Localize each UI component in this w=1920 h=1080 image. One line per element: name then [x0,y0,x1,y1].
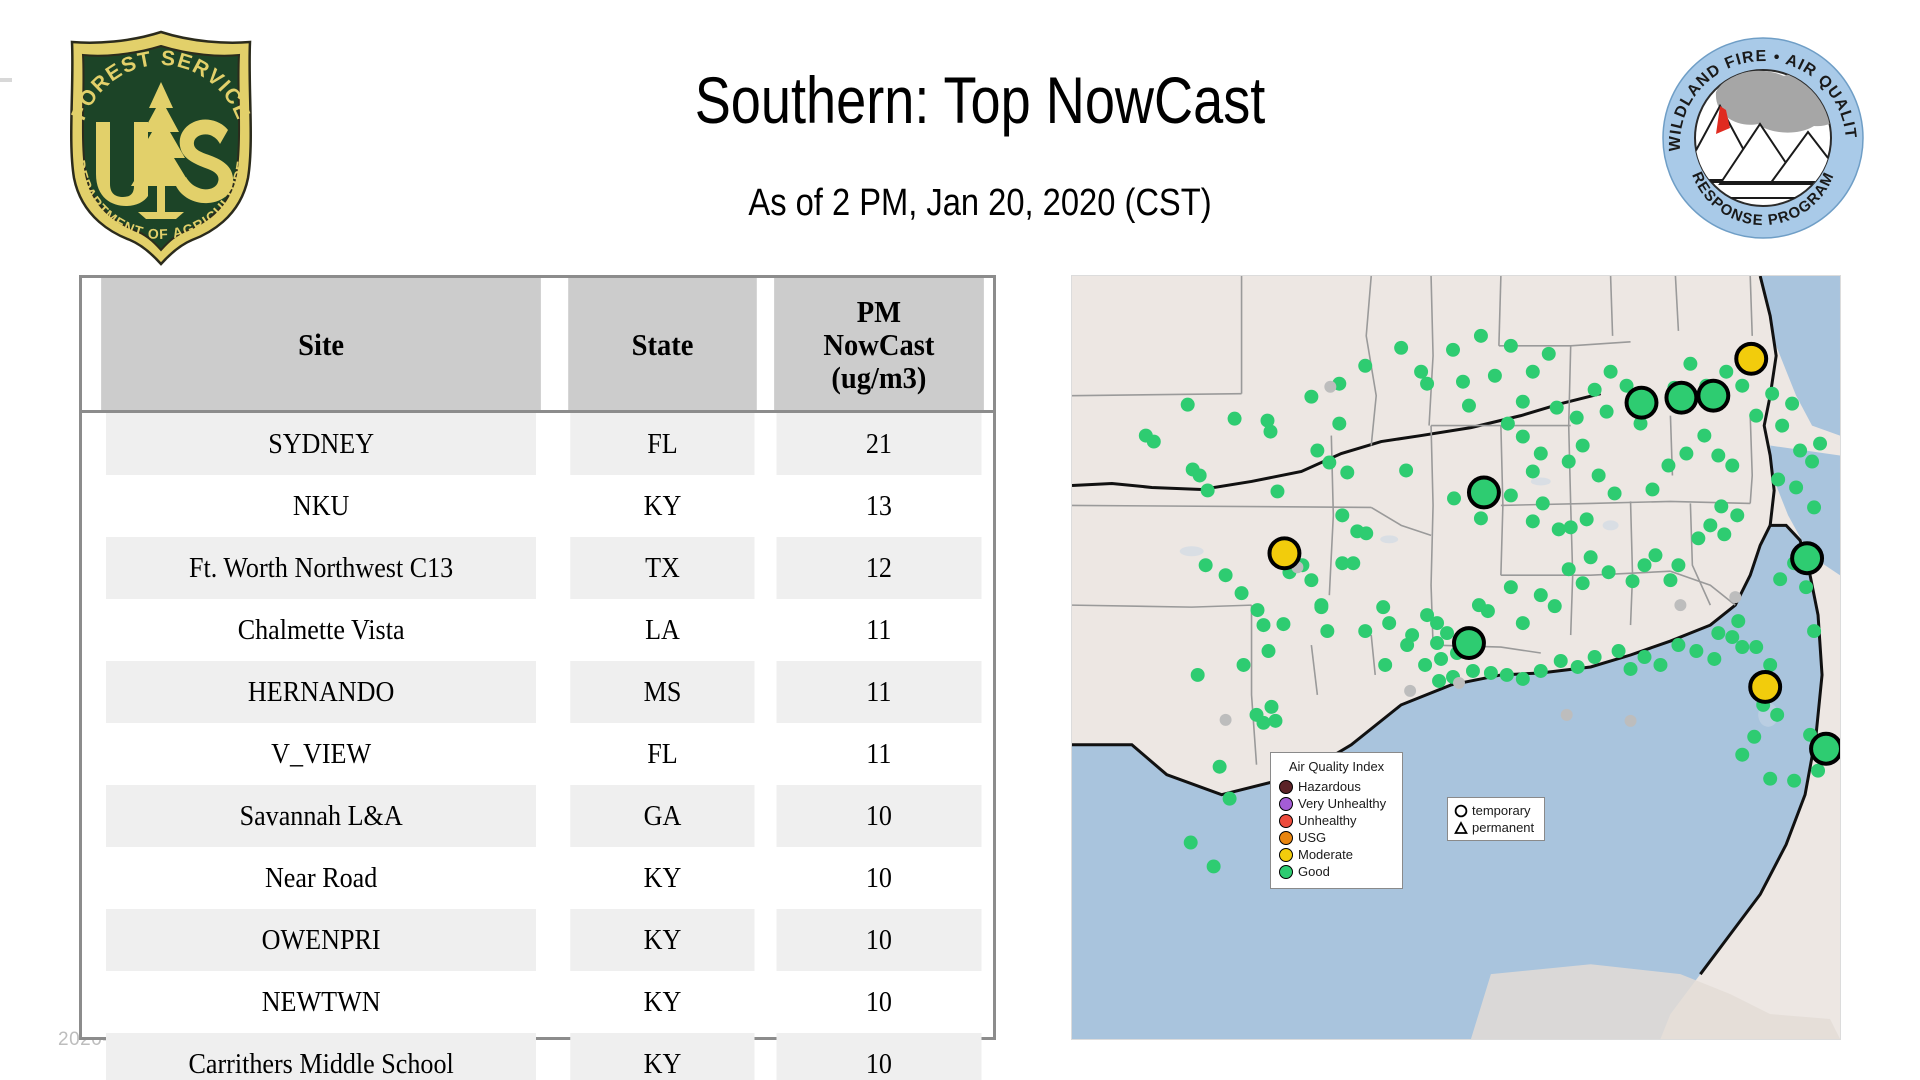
cell-state: KY [571,1033,755,1080]
table-row[interactable]: V_VIEWFL11 [82,723,993,785]
cell-state: TX [571,537,755,599]
table-header-row: Site State PM NowCast (ug/m3) [82,278,993,412]
aqi-legend: Air Quality Index Hazardous Very Unhealt… [1270,752,1403,889]
pm-header-line-3: (ug/m3) [776,361,982,394]
cell-pm: 10 [777,909,982,971]
monitor-type-legend: temporary permanent [1447,797,1545,841]
cell-pm: 10 [777,1033,982,1080]
aqi-swatch-hazardous-icon [1279,780,1293,794]
table-row[interactable]: OWENPRIKY10 [82,909,993,971]
triangle-marker-icon [1454,821,1468,835]
cell-state: KY [571,475,755,537]
cell-pm: 10 [777,971,982,1033]
cell-site: Near Road [106,847,536,909]
cell-state: KY [571,847,755,909]
pm-header-line-2: NowCast [776,328,982,361]
map-site-ft-worth-northwest-c13[interactable] [1269,538,1299,568]
cell-pm: 10 [777,785,982,847]
cell-site: Chalmette Vista [106,599,536,661]
map-site-v-view[interactable] [1811,734,1840,764]
aqi-swatch-usg-icon [1279,831,1293,845]
monitor-type-item-permanent[interactable]: permanent [1454,819,1538,836]
aqi-legend-item-usg[interactable]: USG [1279,829,1394,846]
pm-header-line-1: PM [776,295,982,328]
map-site-owenpri[interactable] [1666,383,1696,413]
left-edge-marker [0,78,12,82]
aqi-legend-item-unhealthy[interactable]: Unhealthy [1279,812,1394,829]
cell-state: MS [571,661,755,723]
aqi-legend-item-good[interactable]: Good [1279,863,1394,880]
cell-site: Carrithers Middle School [106,1033,536,1080]
monitor-type-label-permanent: permanent [1472,820,1534,835]
column-header-state[interactable]: State [568,278,757,412]
cell-state: LA [571,599,755,661]
cell-pm: 11 [777,723,982,785]
cell-site: Savannah L&A [106,785,536,847]
map-site-nku[interactable] [1736,344,1766,374]
cell-pm: 13 [777,475,982,537]
cell-state: FL [571,412,755,476]
aqi-legend-item-very-unhealthy[interactable]: Very Unhealthy [1279,795,1394,812]
page-subtitle: As of 2 PM, Jan 20, 2020 (CST) [464,180,1496,226]
map-site-hernando[interactable] [1469,477,1499,507]
air-quality-monitor-map[interactable] [1071,275,1841,1040]
cell-pm: 11 [777,599,982,661]
cell-state: KY [571,909,755,971]
aqi-label-usg: USG [1298,830,1326,845]
table-body: SYDNEYFL21 NKUKY13 Ft. Worth Northwest C… [82,412,993,1080]
cell-site: Ft. Worth Northwest C13 [106,537,536,599]
aqi-legend-title: Air Quality Index [1279,759,1394,774]
table-row[interactable]: Near RoadKY10 [82,847,993,909]
aqi-label-very-unhealthy: Very Unhealthy [1298,796,1386,811]
cell-pm: 10 [777,847,982,909]
aqi-swatch-very-unhealthy-icon [1279,797,1293,811]
top-nowcast-table: Site State PM NowCast (ug/m3) SYDNEYFL21… [82,278,993,1080]
cell-site: NEWTWN [106,971,536,1033]
page-title: Southern: Top NowCast [488,62,1472,138]
table-row[interactable]: SYDNEYFL21 [82,412,993,476]
map-site-near-road[interactable] [1698,381,1728,411]
cell-site: OWENPRI [106,909,536,971]
table-row[interactable]: Savannah L&AGA10 [82,785,993,847]
cell-pm: 12 [777,537,982,599]
map-site-sydney[interactable] [1750,672,1780,702]
column-header-site[interactable]: Site [101,278,541,412]
table-row[interactable]: Chalmette VistaLA11 [82,599,993,661]
circle-marker-icon [1454,804,1468,818]
aqi-legend-item-moderate[interactable]: Moderate [1279,846,1394,863]
aqi-swatch-moderate-icon [1279,848,1293,862]
map-site-carrithers-middle-school[interactable] [1627,388,1657,418]
aqi-swatch-unhealthy-icon [1279,814,1293,828]
map-canvas[interactable] [1072,276,1840,1039]
usda-forest-service-logo: FOREST SERVICE DEPARTMENT OF AGRICULTURE [52,26,270,266]
cell-site: SYDNEY [106,412,536,476]
map-site-chalmette-vista[interactable] [1454,628,1484,658]
table-row[interactable]: Carrithers Middle SchoolKY10 [82,1033,993,1080]
cell-site: HERNANDO [106,661,536,723]
top-nowcast-table-container: Site State PM NowCast (ug/m3) SYDNEYFL21… [79,275,996,1040]
wfaqrp-logo: WILDLAND FIRE • AIR QUALITY RESPONSE PRO… [1658,32,1868,244]
table-row[interactable]: Ft. Worth Northwest C13TX12 [82,537,993,599]
aqi-label-hazardous: Hazardous [1298,779,1361,794]
aqi-label-moderate: Moderate [1298,847,1353,862]
cell-site: NKU [106,475,536,537]
aqi-label-good: Good [1298,864,1330,879]
monitor-type-item-temporary[interactable]: temporary [1454,802,1538,819]
table-row[interactable]: NKUKY13 [82,475,993,537]
aqi-label-unhealthy: Unhealthy [1298,813,1357,828]
cell-state: FL [571,723,755,785]
cell-state: GA [571,785,755,847]
aqi-legend-item-hazardous[interactable]: Hazardous [1279,778,1394,795]
cell-state: KY [571,971,755,1033]
monitor-type-label-temporary: temporary [1472,803,1531,818]
slide-canvas: FOREST SERVICE DEPARTMENT OF AGRICULTURE… [0,0,1920,1080]
cell-pm: 21 [777,412,982,476]
cell-site: V_VIEW [106,723,536,785]
cell-pm: 11 [777,661,982,723]
aqi-swatch-good-icon [1279,865,1293,879]
column-header-pm-nowcast[interactable]: PM NowCast (ug/m3) [774,278,984,412]
map-site-savannah-la[interactable] [1792,543,1822,573]
table-row[interactable]: NEWTWNKY10 [82,971,993,1033]
table-row[interactable]: HERNANDOMS11 [82,661,993,723]
